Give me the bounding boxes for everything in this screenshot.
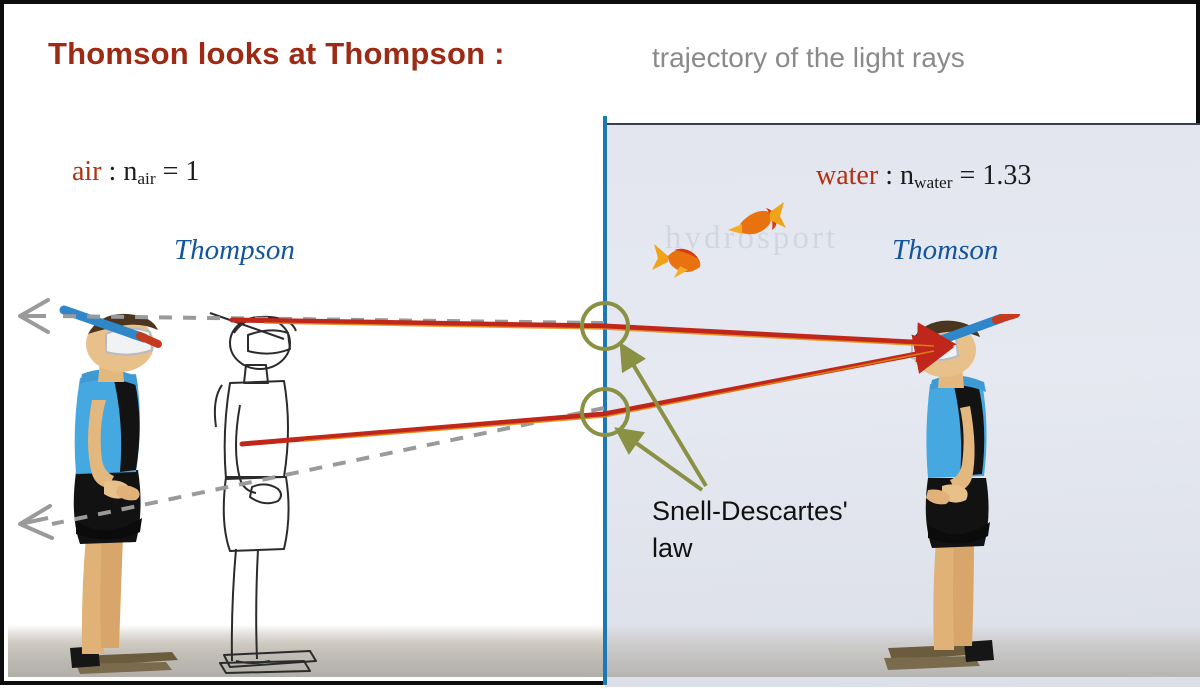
ray-overlay xyxy=(4,4,1200,689)
snell-caption-line-1: Snell-Descartes' xyxy=(652,493,942,530)
air-equals: = xyxy=(156,156,186,187)
water-index-subscript: water xyxy=(914,173,953,192)
label-thompson: Thompson xyxy=(174,234,295,267)
air-index-value: 1 xyxy=(185,156,199,187)
snell-caption-line-2: law xyxy=(652,530,942,567)
snell-descartes-law-caption: Snell-Descartes' law xyxy=(652,493,942,568)
water-separator: : xyxy=(878,160,900,191)
water-index-symbol: n xyxy=(900,160,914,191)
light-ray-air-lower xyxy=(242,414,604,444)
air-index-label: air : nair = 1 xyxy=(72,156,199,189)
air-index-symbol: n xyxy=(123,156,137,187)
water-index-label: water : nwater = 1.33 xyxy=(816,160,1031,193)
light-ray-water-upper xyxy=(604,326,950,344)
air-separator: : xyxy=(102,156,124,187)
page-subtitle: trajectory of the light rays xyxy=(652,42,965,74)
diagram-frame: hydrosport xyxy=(0,0,1200,685)
water-medium-name: water xyxy=(816,160,878,191)
label-thomson: Thomson xyxy=(892,234,998,267)
page-title: Thomson looks at Thompson : xyxy=(48,36,505,72)
air-index-subscript: air xyxy=(137,169,155,188)
water-equals: = xyxy=(953,160,983,191)
virtual-ray-lower xyxy=(52,408,604,524)
water-index-value: 1.33 xyxy=(982,160,1031,191)
air-medium-name: air xyxy=(72,156,102,187)
